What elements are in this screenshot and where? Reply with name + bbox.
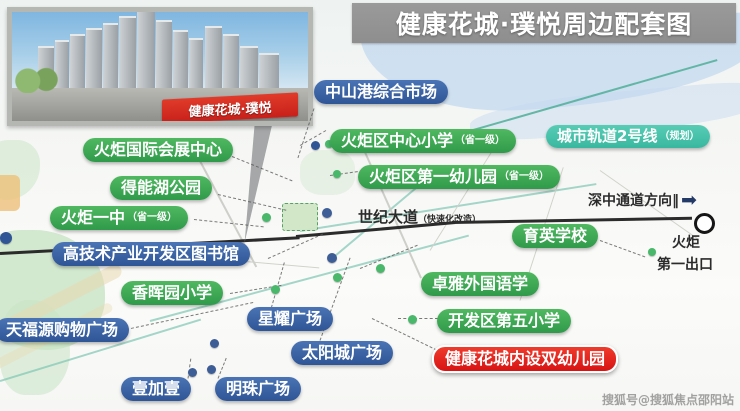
map-dot-1 [311, 141, 320, 150]
exit-label-line1: 火炬 [672, 232, 700, 252]
poi-label: 育英学校 [523, 227, 587, 245]
poster-title-banner: 健康花城·璞悦周边配套图 [352, 3, 736, 43]
block-orange [0, 175, 20, 211]
poi-yijiayi[interactable]: 壹加壹 [121, 377, 191, 401]
photo-tower-6 [119, 16, 136, 88]
photo-tower-7 [137, 10, 155, 88]
poi-denenghu-park[interactable]: 得能湖公园 [110, 176, 212, 200]
poi-label: 开发区第五小学 [448, 312, 560, 330]
photo-tower-14 [259, 53, 279, 88]
map-dot-13 [207, 365, 216, 374]
poi-xianghuiyuan-primary[interactable]: 香晖园小学 [121, 281, 223, 305]
poi-label: 天福源购物广场 [6, 321, 118, 339]
poi-hi-tech-library[interactable]: 高技术产业开发区图书馆 [52, 242, 250, 266]
poi-yuying-school[interactable]: 育英学校 [512, 224, 598, 248]
photo-tower-10 [189, 38, 203, 88]
poi-label: 高技术产业开发区图书馆 [63, 245, 239, 263]
map-dot-9 [376, 264, 385, 273]
poi-note: （省一级） [455, 135, 505, 147]
poi-note: （省一级） [499, 171, 549, 183]
poi-taiyangcheng-plaza[interactable]: 太阳城广场 [291, 341, 393, 365]
poi-label: 健康花城内设双幼儿园 [445, 350, 605, 368]
map-dot-8 [333, 273, 342, 282]
arrow-right-icon: ➡ [681, 191, 697, 210]
map-dot-11 [210, 339, 219, 348]
poi-kaifaqu-no5-primary[interactable]: 开发区第五小学 [437, 309, 571, 333]
photo-tower-13 [240, 46, 258, 88]
exit-label-text-1: 火炬 [672, 235, 700, 251]
poi-label: 壹加壹 [132, 380, 180, 398]
leader-kaifaqu5 [398, 318, 438, 319]
map-dot-3 [333, 170, 341, 178]
photo-tower-8 [156, 20, 172, 88]
direction-label: 深中通道方向‖ [588, 190, 679, 210]
poi-label: 得能湖公园 [121, 179, 201, 197]
poi-label: 城市轨道2号线 [557, 128, 657, 145]
project-photo-inset[interactable]: 健康花城·璞悦 [7, 7, 313, 126]
poi-label: 星耀广场 [258, 310, 322, 328]
poi-huoju-no1-middle[interactable]: 火炬一中 （省一级） [50, 206, 188, 230]
poi-label: 火炬一中 [61, 209, 125, 227]
map-dot-5 [322, 208, 332, 218]
poi-note: （规划） [659, 131, 699, 143]
poi-project-kindergartens[interactable]: 健康花城内设双幼儿园 [432, 345, 618, 373]
road-label-note: （快速化改造） [418, 215, 481, 225]
poi-label: 火炬区中心小学 [341, 132, 453, 150]
photo-tower-11 [205, 26, 222, 88]
poi-huoju-first-kindergarten[interactable]: 火炬区第一幼儿园 （省一级） [358, 165, 560, 189]
map-dot-15 [648, 248, 656, 256]
poi-metro-line-2[interactable]: 城市轨道2号线 （规划） [546, 125, 710, 148]
poi-label: 太阳城广场 [302, 344, 382, 362]
poi-label: 中山港综合市场 [325, 83, 437, 101]
poi-zhongshangang-market[interactable]: 中山港综合市场 [314, 80, 448, 104]
photo-tower-3 [70, 34, 85, 88]
exit-label-line2: 第一出口 [657, 254, 713, 274]
map-dot-7 [271, 285, 280, 294]
map-poster: 健康花城·璞悦周边配套图 健康花城·璞悦 [0, 0, 740, 411]
poi-label: 香晖园小学 [132, 284, 212, 302]
direction-shenzhong: 深中通道方向‖ ➡ [588, 190, 697, 210]
poi-tianfuyuan-mall[interactable]: 天福源购物广场 [0, 318, 129, 342]
road-label-shijidadao: 世纪大道（快速化改造） [358, 206, 481, 227]
map-dot-10 [408, 315, 417, 324]
poster-title-text: 健康花城·璞悦周边配套图 [396, 5, 693, 41]
photo-tower-12 [223, 34, 239, 88]
poi-label: 火炬国际会展中心 [94, 141, 222, 159]
project-plot-marker [282, 203, 318, 231]
photo-trees [14, 63, 60, 93]
road-secondary-3 [430, 140, 500, 251]
poi-label: 卓雅外国语学 [432, 275, 528, 293]
poi-huoju-expo-center[interactable]: 火炬国际会展中心 [83, 138, 233, 162]
poi-zhuoya-foreign-lang[interactable]: 卓雅外国语学 [421, 272, 539, 296]
poi-label: 火炬区第一幼儿园 [369, 168, 497, 186]
poi-huoju-central-primary[interactable]: 火炬区中心小学 （省一级） [330, 129, 516, 153]
exit-node-marker [694, 213, 715, 234]
road-main-to-exit [452, 217, 692, 224]
map-dot-16 [0, 232, 12, 244]
poi-xingyao-plaza[interactable]: 星耀广场 [247, 307, 333, 331]
map-dot-6 [327, 253, 337, 263]
map-dot-4 [262, 213, 271, 222]
photo-tower-5 [103, 23, 118, 88]
exit-label-text-2: 第一出口 [657, 257, 713, 273]
photo-tower-4 [86, 28, 102, 88]
watermark-text: 搜狐号@搜狐焦点邵阳站 [602, 393, 734, 407]
map-dot-12 [188, 368, 197, 377]
poi-mingzhu-plaza[interactable]: 明珠广场 [215, 377, 301, 401]
photo-project-name: 健康花城·璞悦 [189, 96, 272, 119]
poi-note: （省一级） [127, 212, 177, 224]
road-label-main: 世纪大道 [358, 208, 418, 226]
poi-label: 明珠广场 [226, 380, 290, 398]
watermark: 搜狐号@搜狐焦点邵阳站 [602, 391, 734, 408]
photo-tower-9 [173, 30, 188, 88]
